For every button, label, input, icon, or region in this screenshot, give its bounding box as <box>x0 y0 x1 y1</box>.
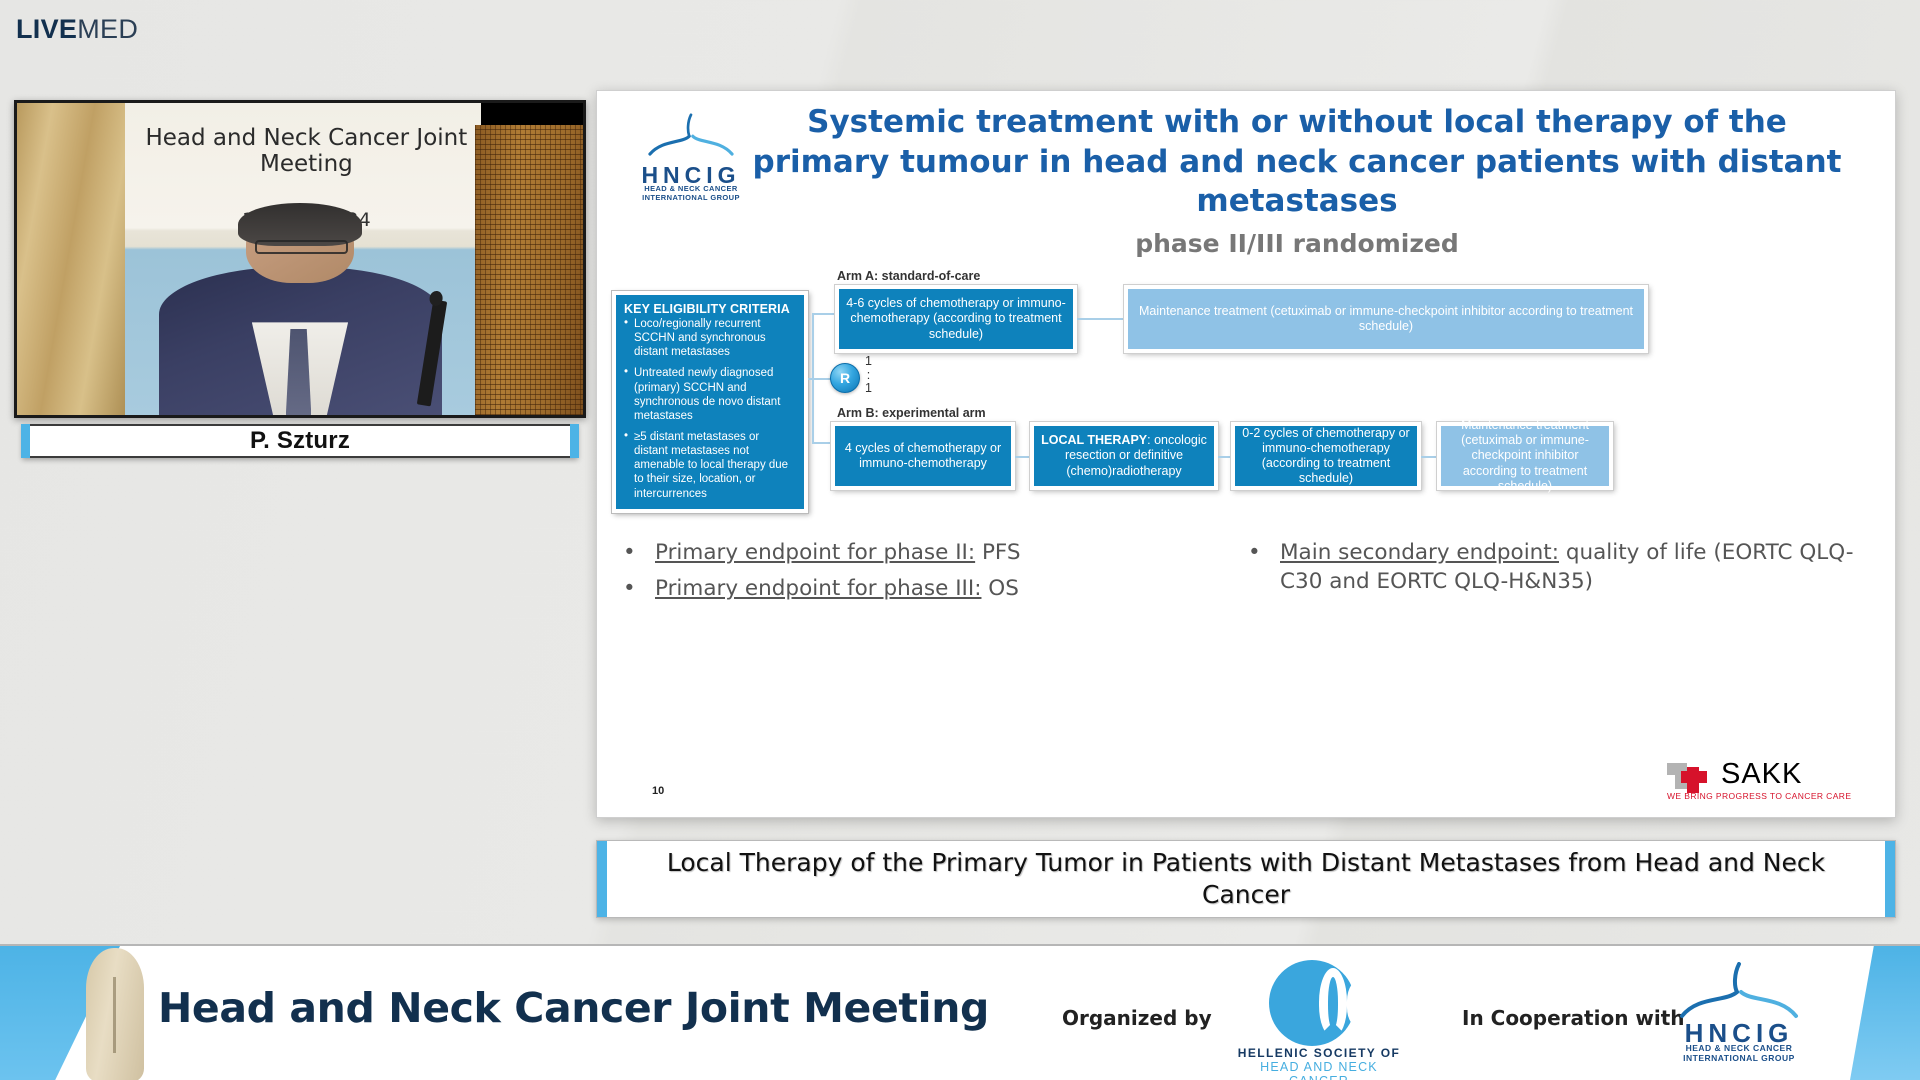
endpoint-label: Primary endpoint for phase II: <box>655 540 975 565</box>
slide-number: 10 <box>652 785 664 797</box>
speaker-name: P. Szturz <box>250 427 350 455</box>
connector-arm-a-mid <box>1077 318 1125 320</box>
bullet-icon: • <box>623 574 655 603</box>
ratio-top: 1 <box>865 355 872 369</box>
cycladic-figurine-icon <box>86 948 144 1080</box>
footer-event-title: Head and Neck Cancer Joint Meeting <box>158 984 989 1032</box>
list-item: Untreated newly diagnosed (primary) SCCH… <box>624 366 796 423</box>
arm-b-box-chemo: 4 cycles of chemotherapy or immuno-chemo… <box>831 422 1015 490</box>
list-item: ≥5 distant metastases or distant metasta… <box>624 430 796 501</box>
hncig-footer-sub2: INTERNATIONAL GROUP <box>1664 1053 1814 1063</box>
endpoints-section: • Primary endpoint for phase II: PFS • P… <box>623 538 1873 610</box>
brand-med: MED <box>77 14 138 44</box>
endpoint-text: Primary endpoint for phase III: OS <box>655 574 1019 603</box>
endpoint-value: PFS <box>975 540 1020 565</box>
arm-a-label: Arm A: standard-of-care <box>837 269 980 283</box>
hellenic-line1: HELLENIC SOCIETY OF <box>1232 1046 1406 1060</box>
banner-title-text: Head and Neck Cancer Joint Meeting <box>142 125 470 178</box>
endpoint-text: Primary endpoint for phase II: PFS <box>655 538 1021 567</box>
arm-b-box-maintenance: Maintenance treatment (cetuximab or immu… <box>1437 422 1613 490</box>
video-wood-panel <box>475 125 583 415</box>
hncig-logo: HNCIG HEAD & NECK CANCER INTERNATIONAL G… <box>627 113 755 201</box>
arm-b-box-cycles: 0-2 cycles of chemotherapy or immuno-che… <box>1231 422 1421 490</box>
endpoint-text: Main secondary endpoint: quality of life… <box>1280 538 1873 596</box>
ratio-colon: : <box>865 369 872 383</box>
local-therapy-text: LOCAL THERAPY: oncologic resection or de… <box>1038 433 1210 479</box>
video-frame: Head and Neck Cancer Joint Meeting 1-2 N… <box>17 103 583 415</box>
arm-a-box-chemo: 4-6 cycles of chemotherapy or immuno-che… <box>835 285 1077 353</box>
event-footer: Head and Neck Cancer Joint Meeting Organ… <box>0 944 1920 1080</box>
bullet-icon: • <box>623 538 655 567</box>
connector-b1-b2 <box>1015 456 1031 458</box>
speaker-nameplate: P. Szturz <box>22 424 578 458</box>
glasses-icon <box>255 240 348 254</box>
speaker-figure <box>159 209 442 415</box>
arm-a-box-maintenance: Maintenance treatment (cetuximab or immu… <box>1124 285 1648 353</box>
brand-live: LIVE <box>16 14 77 44</box>
endpoint-label: Primary endpoint for phase III: <box>655 576 981 601</box>
key-eligibility-criteria-box: KEY ELIGIBILITY CRITERIA Loco/regionally… <box>612 291 808 513</box>
hncig-logo-sub2: INTERNATIONAL GROUP <box>627 193 755 202</box>
connector-b2-b3 <box>1218 456 1232 458</box>
session-caption-text: Local Therapy of the Primary Tumor in Pa… <box>597 847 1895 912</box>
eligibility-list: Loco/regionally recurrent SCCHN and sync… <box>624 317 796 501</box>
hellenic-profile-icon <box>1347 978 1381 1028</box>
footer-blue-shape-right <box>1850 946 1920 1080</box>
eligibility-heading: KEY ELIGIBILITY CRITERIA <box>624 302 796 316</box>
in-cooperation-with-label: In Cooperation with <box>1462 1006 1685 1030</box>
slide-title: Systemic treatment with or without local… <box>747 103 1847 222</box>
endpoint-row: • Primary endpoint for phase II: PFS <box>623 538 1248 567</box>
bullet-icon: • <box>1248 538 1280 596</box>
sakk-tagline: WE BRING PROGRESS TO CANCER CARE <box>1667 791 1851 801</box>
arm-b-box-local-therapy: LOCAL THERAPY: oncologic resection or de… <box>1030 422 1218 490</box>
randomization-label: R <box>840 370 850 386</box>
endpoint-row: • Primary endpoint for phase III: OS <box>623 574 1248 603</box>
randomization-ratio: 1 : 1 <box>865 355 872 396</box>
connector-split-vertical <box>812 313 814 443</box>
speaker-video[interactable]: Head and Neck Cancer Joint Meeting 1-2 N… <box>14 100 586 418</box>
hellenic-circle-icon <box>1269 960 1355 1046</box>
video-curtain <box>17 103 125 415</box>
session-caption-bar: Local Therapy of the Primary Tumor in Pa… <box>596 840 1896 918</box>
ratio-bottom: 1 <box>865 382 872 396</box>
hellenic-society-logo: HELLENIC SOCIETY OF HEAD AND NECK CANCER <box>1232 960 1406 1070</box>
local-therapy-strong: LOCAL THERAPY <box>1041 433 1147 447</box>
hncig-head-outline-icon <box>627 113 755 163</box>
endpoint-label: Main secondary endpoint: <box>1280 540 1559 565</box>
hncig-logo-sub1: HEAD & NECK CANCER <box>627 184 755 193</box>
sakk-logo: SAKK WE BRING PROGRESS TO CANCER CARE <box>1667 759 1867 803</box>
endpoints-right-column: • Main secondary endpoint: quality of li… <box>1248 538 1873 610</box>
livemed-logo: LIVEMED <box>16 14 138 45</box>
endpoint-value: OS <box>981 576 1018 601</box>
endpoints-left-column: • Primary endpoint for phase II: PFS • P… <box>623 538 1248 610</box>
randomization-badge: R <box>830 363 860 393</box>
hncig-footer-logo: HNCIG HEAD & NECK CANCER INTERNATIONAL G… <box>1664 962 1814 1066</box>
organized-by-label: Organized by <box>1062 1006 1212 1030</box>
hellenic-line2: HEAD AND NECK CANCER <box>1232 1060 1406 1080</box>
presentation-slide[interactable]: HNCIG HEAD & NECK CANCER INTERNATIONAL G… <box>596 90 1896 818</box>
hncig-footer-sub1: HEAD & NECK CANCER <box>1664 1043 1814 1053</box>
list-item: Loco/regionally recurrent SCCHN and sync… <box>624 317 796 359</box>
sakk-name: SAKK <box>1721 758 1802 791</box>
arm-b-label: Arm B: experimental arm <box>837 406 986 420</box>
hellenic-ribbon-icon <box>1319 968 1347 1036</box>
endpoint-row: • Main secondary endpoint: quality of li… <box>1248 538 1873 596</box>
slide-subtitle: phase II/III randomized <box>747 229 1847 258</box>
hncig-head-outline-icon <box>1664 962 1814 1020</box>
sakk-cross-icon <box>1667 763 1715 793</box>
